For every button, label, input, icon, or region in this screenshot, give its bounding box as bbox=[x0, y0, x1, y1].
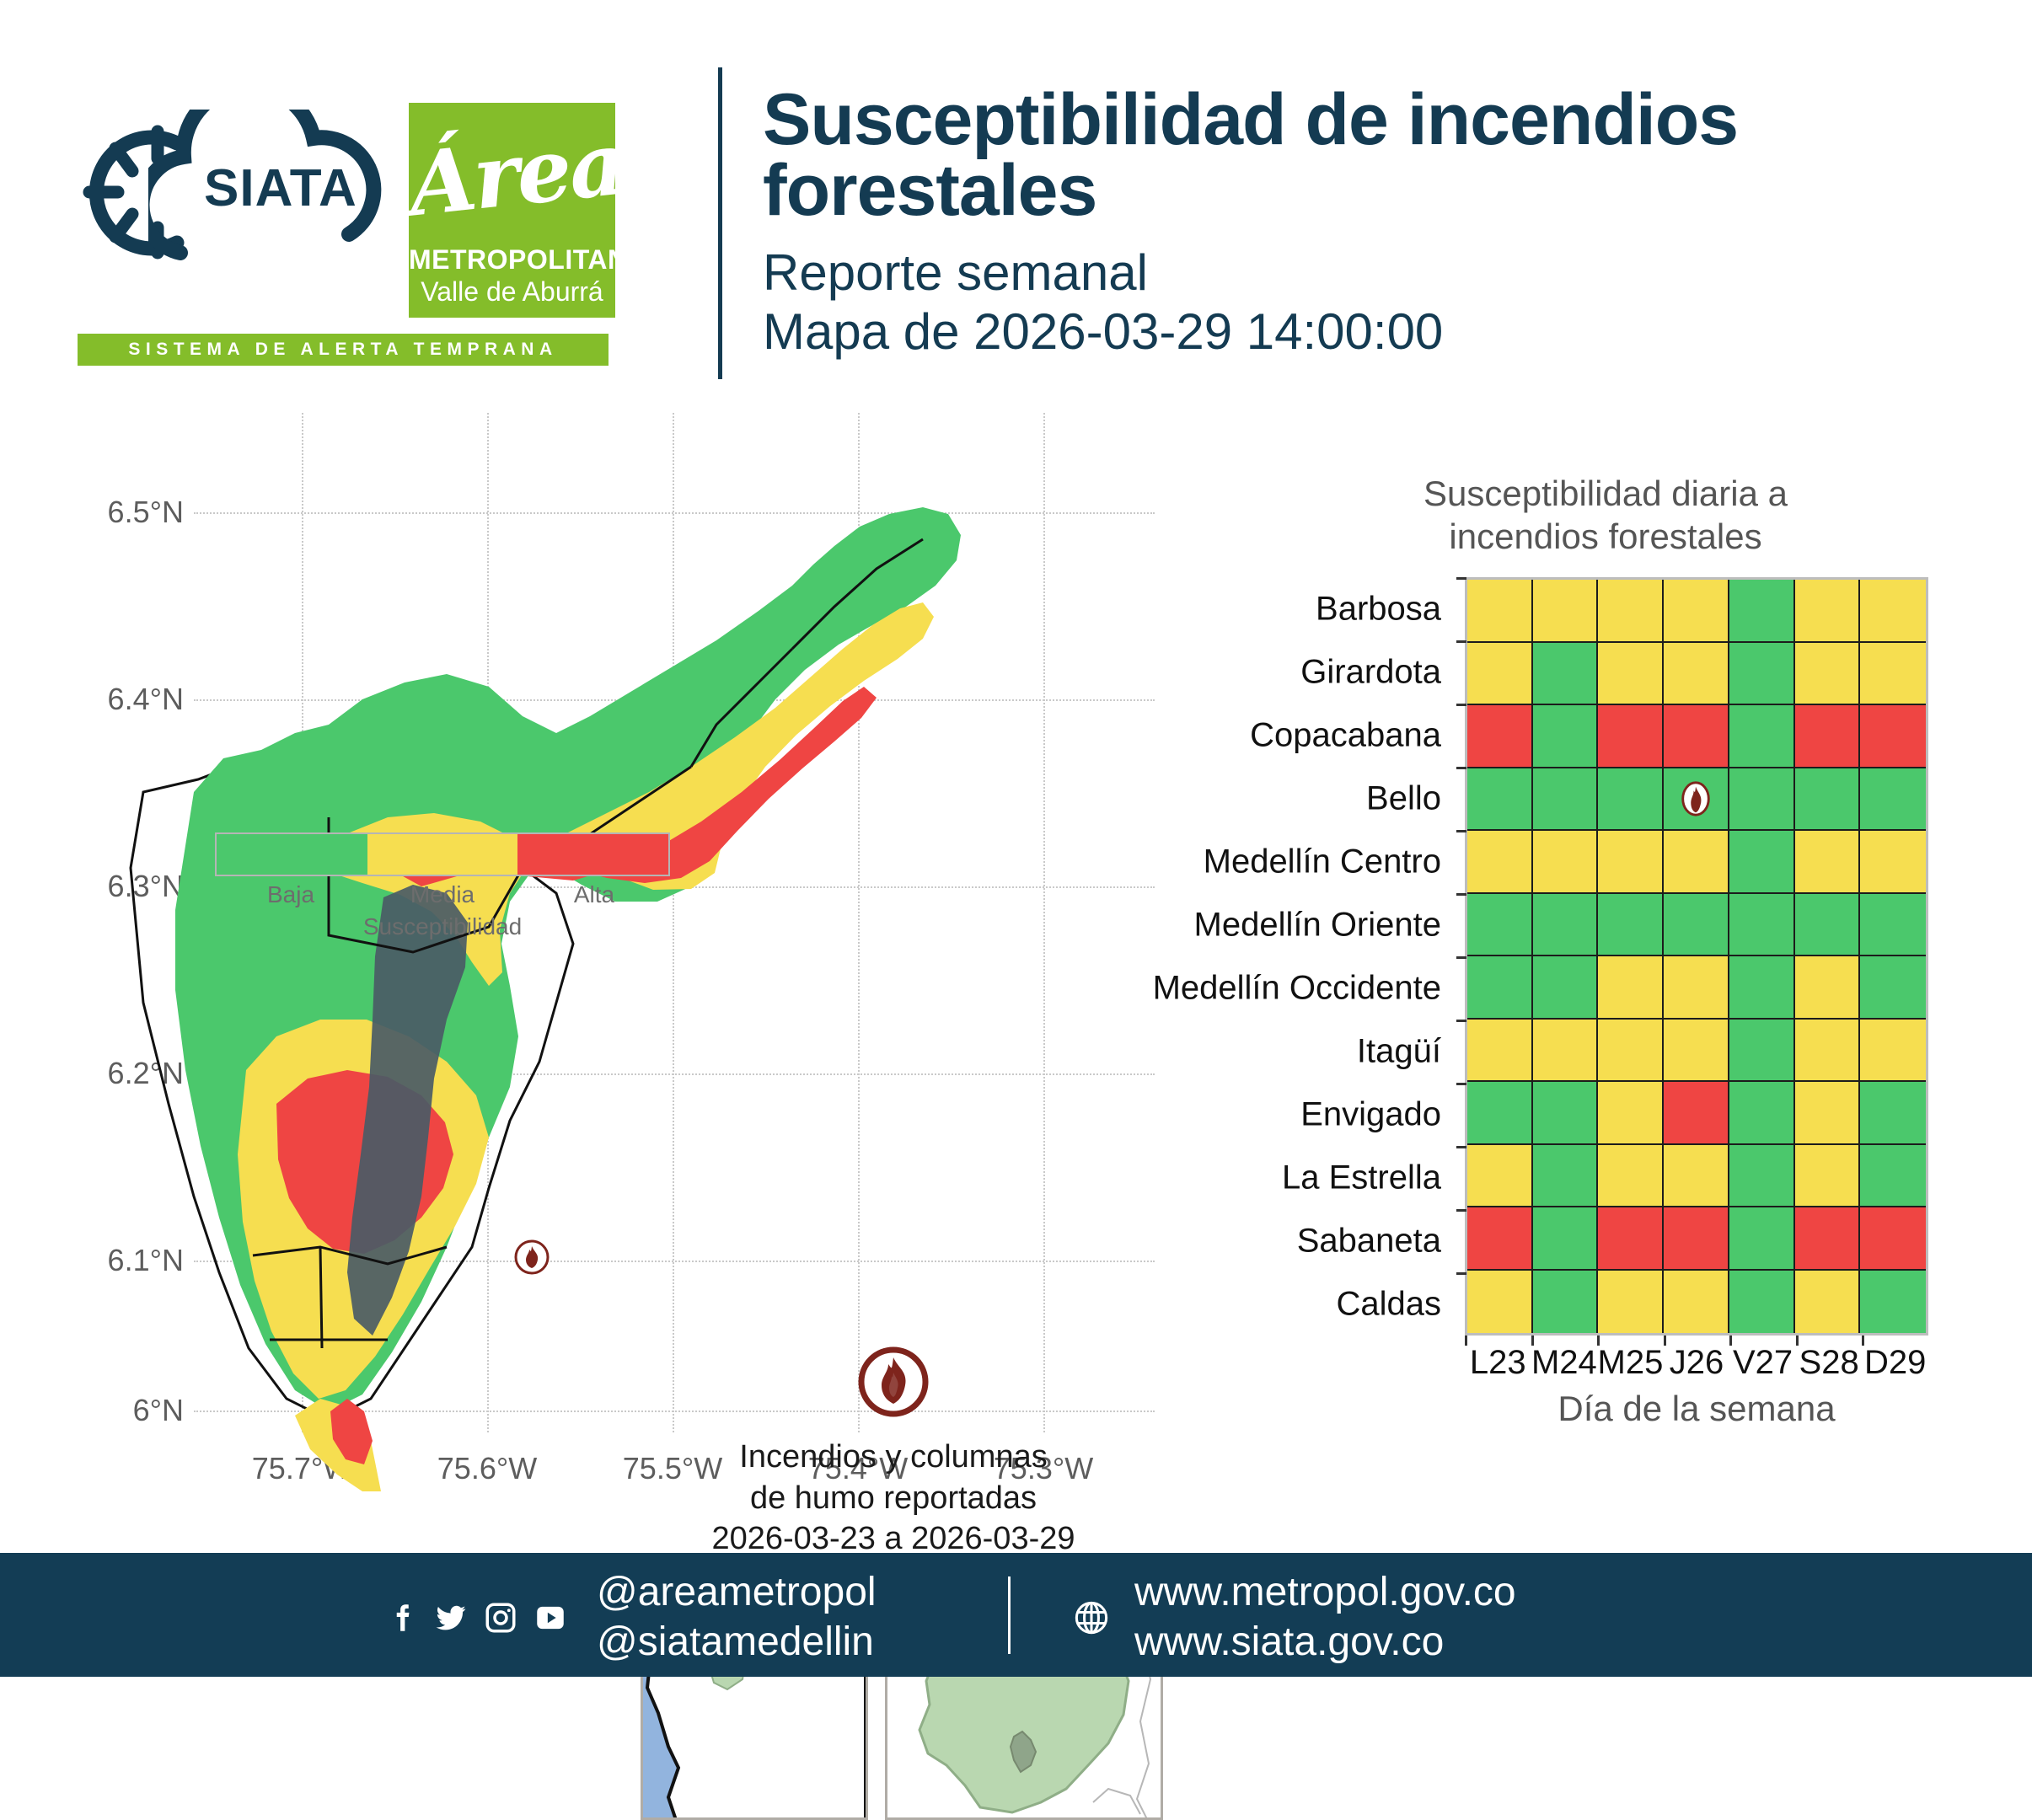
heatmap-cell[interactable] bbox=[1795, 956, 1861, 1020]
heatmap-cell[interactable] bbox=[1533, 580, 1599, 643]
heatmap-cell[interactable] bbox=[1860, 1020, 1926, 1083]
heatmap-row-label: Bello bbox=[1366, 779, 1441, 817]
heatmap-cell[interactable] bbox=[1860, 643, 1926, 706]
website-urls: www.metropol.gov.co www.siata.gov.co bbox=[1134, 1568, 1516, 1667]
heatmap-cell[interactable] bbox=[1664, 705, 1729, 768]
handle-siatamedellin[interactable]: @siatamedellin bbox=[597, 1618, 877, 1667]
heatmap-row-tick bbox=[1456, 830, 1466, 832]
heatmap-cell[interactable] bbox=[1729, 894, 1795, 957]
poster-root: SIATA SISTEMA DE ALERTA TEMPRANA Área ME… bbox=[0, 0, 2032, 1677]
heatmap-column-tick bbox=[1664, 1336, 1666, 1346]
area-script-wordmark: Área bbox=[402, 98, 622, 258]
legend-label-media: Media bbox=[410, 881, 474, 908]
heatmap-cell[interactable] bbox=[1860, 705, 1926, 768]
heatmap-cell[interactable] bbox=[1467, 894, 1533, 957]
heatmap-cell[interactable] bbox=[1729, 1020, 1795, 1083]
heatmap-cell[interactable] bbox=[1598, 956, 1664, 1020]
siata-tagline: SISTEMA DE ALERTA TEMPRANA bbox=[128, 340, 557, 360]
fire-marker-icon bbox=[1680, 780, 1712, 817]
page-title: Susceptibilidad de incendios forestales bbox=[763, 84, 1875, 227]
heatmap-cell[interactable] bbox=[1598, 1020, 1664, 1083]
heatmap-cell[interactable] bbox=[1598, 894, 1664, 957]
header: SIATA SISTEMA DE ALERTA TEMPRANA Área ME… bbox=[0, 0, 2032, 388]
heatmap-cell[interactable] bbox=[1467, 1082, 1533, 1145]
heatmap-row-label: Itagüí bbox=[1357, 1032, 1441, 1070]
heatmap-cell[interactable] bbox=[1467, 1207, 1533, 1271]
daily-susceptibility-heatmap: Susceptibilidad diaria aincendios forest… bbox=[1214, 472, 1997, 1466]
heatmap-column-label: J26 bbox=[1670, 1344, 1724, 1382]
heatmap-cell[interactable] bbox=[1860, 831, 1926, 894]
heatmap-column-tick bbox=[1796, 1336, 1799, 1346]
heatmap-row-tick bbox=[1456, 1272, 1466, 1275]
heatmap-cell[interactable] bbox=[1729, 768, 1795, 832]
heatmap-cell[interactable] bbox=[1729, 580, 1795, 643]
heatmap-cell[interactable] bbox=[1664, 768, 1729, 832]
heatmap-cell[interactable] bbox=[1664, 956, 1729, 1020]
area-metropolitana-logo: Área METROPOLITANA Valle de Aburrá bbox=[409, 103, 615, 318]
heatmap-grid-wrapper bbox=[1465, 577, 1928, 1336]
heatmap-cell[interactable] bbox=[1729, 1207, 1795, 1271]
heatmap-cell[interactable] bbox=[1664, 1020, 1729, 1083]
heatmap-cell[interactable] bbox=[1533, 1145, 1599, 1208]
heatmap-cell[interactable] bbox=[1729, 1082, 1795, 1145]
heatmap-cell[interactable] bbox=[1467, 831, 1533, 894]
heatmap-title-line: incendios forestales bbox=[1423, 515, 1788, 558]
heatmap-column-label: M24 bbox=[1531, 1344, 1597, 1382]
fire-caption-line-2: de humo reportadas bbox=[711, 1478, 1075, 1519]
fire-marker-icon bbox=[513, 1239, 550, 1276]
heatmap-row-label: Girardota bbox=[1300, 653, 1441, 691]
heatmap-cell[interactable] bbox=[1467, 956, 1533, 1020]
heatmap-cell[interactable] bbox=[1729, 831, 1795, 894]
heatmap-cell[interactable] bbox=[1664, 580, 1729, 643]
social-block: @areametropol @siatamedellin bbox=[383, 1568, 877, 1667]
heatmap-cell[interactable] bbox=[1533, 1082, 1599, 1145]
heatmap-cell[interactable] bbox=[1664, 831, 1729, 894]
heatmap-cell[interactable] bbox=[1860, 1271, 1926, 1334]
heatmap-cell[interactable] bbox=[1533, 705, 1599, 768]
heatmap-row-tick bbox=[1456, 893, 1466, 896]
susceptibility-legend bbox=[215, 832, 670, 876]
heatmap-cell[interactable] bbox=[1860, 1145, 1926, 1208]
heatmap-cell[interactable] bbox=[1533, 894, 1599, 957]
heatmap-cell[interactable] bbox=[1467, 768, 1533, 832]
heatmap-cell[interactable] bbox=[1533, 1271, 1599, 1334]
heatmap-cell[interactable] bbox=[1664, 643, 1729, 706]
heatmap-column-tick bbox=[1597, 1336, 1600, 1346]
heatmap-cell[interactable] bbox=[1598, 580, 1664, 643]
legend-swatch-alta bbox=[517, 834, 668, 875]
heatmap-row-tick bbox=[1456, 1146, 1466, 1148]
heatmap-cell[interactable] bbox=[1795, 1271, 1861, 1334]
youtube-icon[interactable] bbox=[533, 1600, 568, 1635]
heatmap-cell[interactable] bbox=[1467, 643, 1533, 706]
area-valle-line: Valle de Aburrá bbox=[409, 276, 615, 308]
heatmap-row-tick bbox=[1456, 577, 1466, 580]
heatmap-cell[interactable] bbox=[1598, 705, 1664, 768]
heatmap-column-tick bbox=[1465, 1336, 1467, 1346]
fire-circle-icon bbox=[855, 1344, 931, 1420]
heatmap-column-label: D29 bbox=[1864, 1344, 1926, 1382]
heatmap-cell[interactable] bbox=[1795, 1082, 1861, 1145]
heatmap-row-label: La Estrella bbox=[1282, 1159, 1441, 1196]
globe-icon bbox=[1072, 1598, 1111, 1637]
facebook-icon[interactable] bbox=[383, 1600, 419, 1635]
heatmap-row-tick bbox=[1456, 1209, 1466, 1212]
heatmap-row-tick bbox=[1456, 1083, 1466, 1085]
heatmap-row-label: Caldas bbox=[1336, 1285, 1441, 1323]
heatmap-cell[interactable] bbox=[1860, 768, 1926, 832]
url-metropol[interactable]: www.metropol.gov.co bbox=[1134, 1568, 1516, 1618]
heatmap-cell[interactable] bbox=[1664, 1207, 1729, 1271]
heatmap-row-tick bbox=[1456, 767, 1466, 769]
heatmap-cell[interactable] bbox=[1795, 768, 1861, 832]
heatmap-cell[interactable] bbox=[1795, 643, 1861, 706]
report-subtitle: Reporte semanal bbox=[763, 244, 1985, 303]
heatmap-cell[interactable] bbox=[1729, 956, 1795, 1020]
susceptibility-map bbox=[51, 396, 1171, 1491]
heatmap-row-label: Medellín Oriente bbox=[1194, 906, 1441, 944]
instagram-icon[interactable] bbox=[483, 1600, 518, 1635]
heatmap-row-label: Envigado bbox=[1300, 1095, 1441, 1133]
area-metropolitana-line: METROPOLITANA bbox=[409, 244, 615, 276]
heatmap-cell[interactable] bbox=[1598, 831, 1664, 894]
heatmap-cell[interactable] bbox=[1664, 894, 1729, 957]
heatmap-cell[interactable] bbox=[1729, 643, 1795, 706]
heatmap-row-tick bbox=[1456, 640, 1466, 643]
handle-areametropol[interactable]: @areametropol bbox=[597, 1568, 877, 1618]
heatmap-row-tick bbox=[1456, 956, 1466, 959]
heatmap-cell[interactable] bbox=[1860, 956, 1926, 1020]
heatmap-cell[interactable] bbox=[1598, 1082, 1664, 1145]
heatmap-cell[interactable] bbox=[1467, 705, 1533, 768]
siata-tagline-bar: SISTEMA DE ALERTA TEMPRANA bbox=[78, 334, 609, 366]
heatmap-cell[interactable] bbox=[1860, 894, 1926, 957]
map-datetime: Mapa de 2026-03-29 14:00:00 bbox=[763, 302, 1985, 362]
heatmap-cell[interactable] bbox=[1467, 1271, 1533, 1334]
header-divider bbox=[718, 67, 722, 379]
heatmap-row-label: Medellín Occidente bbox=[1153, 969, 1441, 1007]
heatmap-cell[interactable] bbox=[1598, 1271, 1664, 1334]
legend-swatch-media bbox=[367, 834, 518, 875]
heatmap-title: Susceptibilidad diaria aincendios forest… bbox=[1423, 472, 1788, 558]
fire-caption-line-1: Incendios y columnas bbox=[711, 1437, 1075, 1478]
heatmap-cell[interactable] bbox=[1795, 580, 1861, 643]
heatmap-cell[interactable] bbox=[1533, 643, 1599, 706]
heatmap-column-label: S28 bbox=[1799, 1344, 1859, 1382]
heatmap-cell[interactable] bbox=[1795, 705, 1861, 768]
heatmap-cell[interactable] bbox=[1795, 1020, 1861, 1083]
heatmap-grid bbox=[1467, 580, 1926, 1333]
heatmap-cell[interactable] bbox=[1598, 643, 1664, 706]
twitter-icon[interactable] bbox=[433, 1600, 469, 1635]
heatmap-cell[interactable] bbox=[1533, 768, 1599, 832]
heatmap-cell[interactable] bbox=[1533, 1020, 1599, 1083]
heatmap-cell[interactable] bbox=[1533, 1207, 1599, 1271]
heatmap-x-axis-label: Día de la semana bbox=[1558, 1389, 1835, 1429]
footer: @areametropol @siatamedellin www.metropo… bbox=[0, 1553, 2032, 1677]
heatmap-cell[interactable] bbox=[1664, 1145, 1729, 1208]
heatmap-column-label: M25 bbox=[1598, 1344, 1664, 1382]
heatmap-cell[interactable] bbox=[1729, 1271, 1795, 1334]
heatmap-cell[interactable] bbox=[1795, 1145, 1861, 1208]
heatmap-row-label: Sabaneta bbox=[1297, 1222, 1441, 1260]
map-panel: 6.5°N 6.4°N 6.3°N 6.2°N 6.1°N 6°N 75.7°W… bbox=[51, 396, 1171, 1491]
legend-swatch-baja bbox=[217, 834, 367, 875]
social-icons bbox=[383, 1600, 568, 1635]
web-block: www.metropol.gov.co www.siata.gov.co bbox=[1072, 1568, 1516, 1667]
legend-caption: Susceptibilidad bbox=[363, 913, 522, 940]
heatmap-cell[interactable] bbox=[1467, 1020, 1533, 1083]
heatmap-cell[interactable] bbox=[1860, 580, 1926, 643]
heatmap-cell[interactable] bbox=[1598, 768, 1664, 832]
heatmap-row-label: Barbosa bbox=[1316, 590, 1441, 628]
siata-wordmark: SIATA bbox=[204, 158, 357, 218]
heatmap-cell[interactable] bbox=[1729, 705, 1795, 768]
heatmap-cell[interactable] bbox=[1795, 1207, 1861, 1271]
siata-logo: SIATA bbox=[78, 110, 432, 278]
heatmap-cell[interactable] bbox=[1467, 580, 1533, 643]
heatmap-row-tick bbox=[1456, 704, 1466, 706]
legend-label-baja: Baja bbox=[267, 881, 314, 908]
heatmap-cell[interactable] bbox=[1467, 1145, 1533, 1208]
heatmap-column-tick bbox=[1531, 1336, 1534, 1346]
heatmap-cell[interactable] bbox=[1664, 1082, 1729, 1145]
footer-divider bbox=[1008, 1576, 1011, 1654]
legend-label-alta: Alta bbox=[574, 881, 614, 908]
heatmap-row-tick bbox=[1456, 1020, 1466, 1022]
heatmap-cell[interactable] bbox=[1598, 1145, 1664, 1208]
social-handles: @areametropol @siatamedellin bbox=[597, 1568, 877, 1667]
heatmap-column-label: V27 bbox=[1733, 1344, 1793, 1382]
heatmap-column-tick bbox=[1729, 1336, 1732, 1346]
heatmap-row-label: Copacabana bbox=[1250, 716, 1441, 754]
title-block: Susceptibilidad de incendios forestales … bbox=[763, 84, 1985, 362]
heatmap-cell[interactable] bbox=[1795, 831, 1861, 894]
heatmap-cell[interactable] bbox=[1795, 894, 1861, 957]
heatmap-column-tick bbox=[1862, 1336, 1864, 1346]
heatmap-cell[interactable] bbox=[1598, 1207, 1664, 1271]
heatmap-cell[interactable] bbox=[1533, 956, 1599, 1020]
heatmap-cell[interactable] bbox=[1860, 1082, 1926, 1145]
heatmap-cell[interactable] bbox=[1729, 1145, 1795, 1208]
heatmap-column-label: L23 bbox=[1470, 1344, 1526, 1382]
heatmap-title-line: Susceptibilidad diaria a bbox=[1423, 472, 1788, 515]
heatmap-cell[interactable] bbox=[1533, 831, 1599, 894]
heatmap-cell[interactable] bbox=[1664, 1271, 1729, 1334]
heatmap-row-label: Medellín Centro bbox=[1204, 843, 1441, 881]
url-siata[interactable]: www.siata.gov.co bbox=[1134, 1618, 1516, 1667]
heatmap-cell[interactable] bbox=[1860, 1207, 1926, 1271]
